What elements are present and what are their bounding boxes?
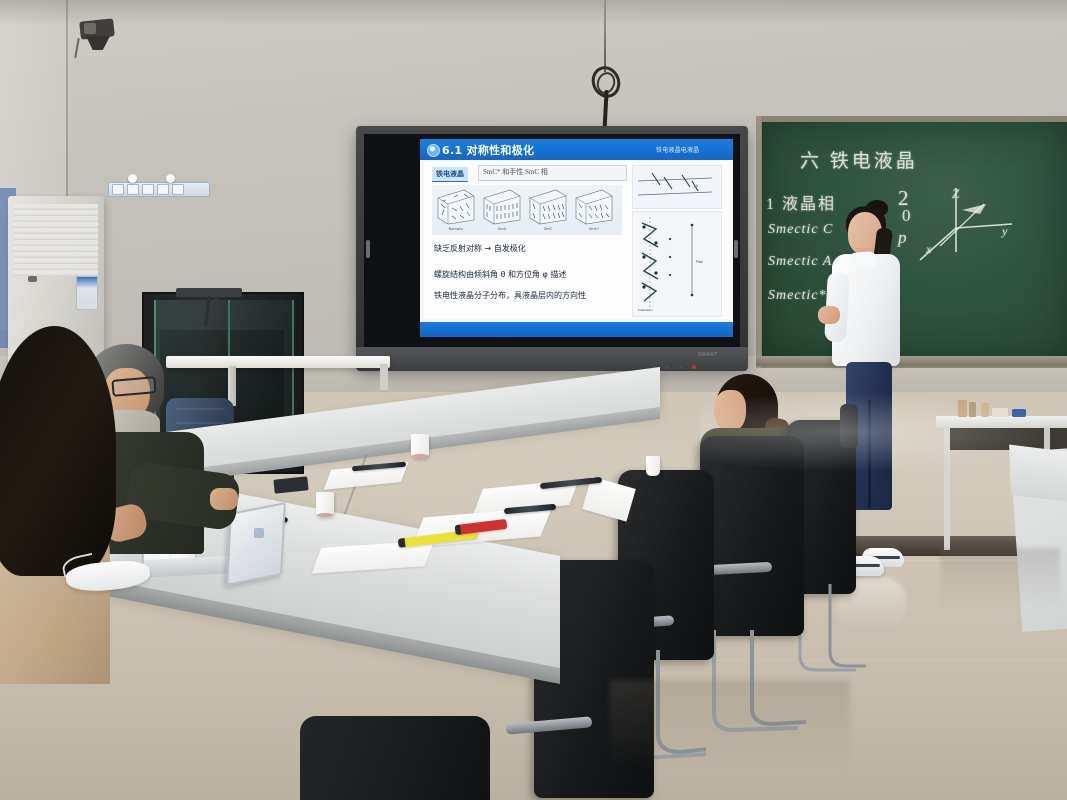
paper-cup[interactable] — [646, 456, 660, 476]
shelf-arm — [380, 364, 388, 390]
globe-icon — [427, 144, 440, 157]
adjustable-shelf — [166, 356, 390, 368]
slide-bullet: 缺乏反射对称 → 自发极化 — [434, 243, 526, 254]
phase-caption: Nematic — [436, 227, 476, 231]
eraser-icon[interactable] — [127, 184, 139, 195]
slide-title: 6.1 对称性和极化 — [442, 142, 534, 158]
chair[interactable] — [300, 716, 490, 800]
phase-caption: SmA — [482, 227, 522, 231]
helix-diagram-svg: Pitch Polarization — [634, 213, 718, 313]
toolbar-knob[interactable] — [128, 174, 137, 183]
menu-icon[interactable] — [172, 184, 184, 195]
ceiling-shadow — [0, 0, 1067, 26]
laptop-logo-icon — [254, 528, 264, 538]
slide-footer-bar — [420, 322, 733, 337]
phase-caption: SmC* — [574, 227, 614, 231]
pen-icon[interactable] — [112, 184, 124, 195]
classroom-scene: 六 铁电液晶 1 液晶相 Smectic C Smectic A Smectic… — [0, 0, 1067, 800]
blackboard-line-4: Smectic* — [768, 288, 827, 304]
pointer-icon[interactable] — [142, 184, 154, 195]
blackboard-axis-y: y — [1002, 224, 1007, 239]
blackboard-ledge — [756, 356, 1067, 366]
blackboard-line-1: 1 液晶相 — [766, 190, 836, 214]
phase-caption: SmC — [528, 227, 568, 231]
display-toolbar[interactable] — [108, 182, 210, 197]
display-side-button-left[interactable] — [366, 240, 370, 258]
tilt-geometry-svg: θ — [634, 167, 718, 205]
svg-text:Polarization: Polarization — [638, 308, 653, 312]
display-led-row — [652, 356, 718, 363]
svg-text:θ: θ — [696, 184, 698, 188]
phase-diagram-smectic-c-star — [574, 188, 614, 225]
air-conditioner-label — [76, 276, 98, 310]
svg-text:Pitch: Pitch — [696, 260, 703, 264]
blackboard-line-2: Smectic C — [768, 222, 833, 238]
camera-lens-icon — [84, 23, 96, 34]
display-side-button-right[interactable] — [734, 240, 738, 258]
presenter-hands — [818, 306, 840, 324]
presenter-collar — [849, 251, 876, 269]
toolbar-knob[interactable] — [166, 174, 175, 183]
phase-diagram-smectic-a — [482, 188, 522, 225]
select-icon[interactable] — [157, 184, 169, 195]
display-led — [679, 365, 683, 369]
cup-ring — [317, 513, 333, 517]
cup-ring — [412, 454, 428, 458]
slide-section-tag: 铁电液晶 — [432, 167, 468, 182]
slide-bullet: 铁电性液晶分子分布，具液晶层内的方向性 — [434, 291, 629, 301]
blackboard-axis-z: Z — [952, 186, 959, 202]
hanging-cable — [604, 0, 606, 72]
air-conditioner-grille — [14, 204, 98, 276]
slide-bullet: 螺旋结构由倾斜角 θ 和方位角 φ 描述 — [434, 269, 566, 280]
blackboard-axis-x: x — [926, 242, 931, 257]
slide-formula-text: SmC* 和手性 SmC 相 — [483, 167, 548, 177]
phase-diagram-nematic — [436, 188, 476, 225]
phase-diagram-smectic-c — [528, 188, 568, 225]
attendee-hair — [0, 326, 116, 576]
attendee-hand — [210, 488, 238, 510]
air-conditioner-vent — [28, 276, 37, 282]
floor-glare — [700, 392, 1060, 472]
floor-reflection — [940, 548, 1060, 608]
slide-header-right-label: 铁电液晶电液晶 — [656, 145, 699, 154]
blackboard-heading: 六 铁电液晶 — [800, 146, 918, 173]
blackboard-line-3: Smectic A — [768, 254, 832, 270]
floor-reflection — [610, 680, 850, 770]
slide-content[interactable]: 6.1 对称性和极化 铁电液晶电液晶 铁电液晶 SmC* 和手性 SmC 相 — [420, 139, 733, 337]
